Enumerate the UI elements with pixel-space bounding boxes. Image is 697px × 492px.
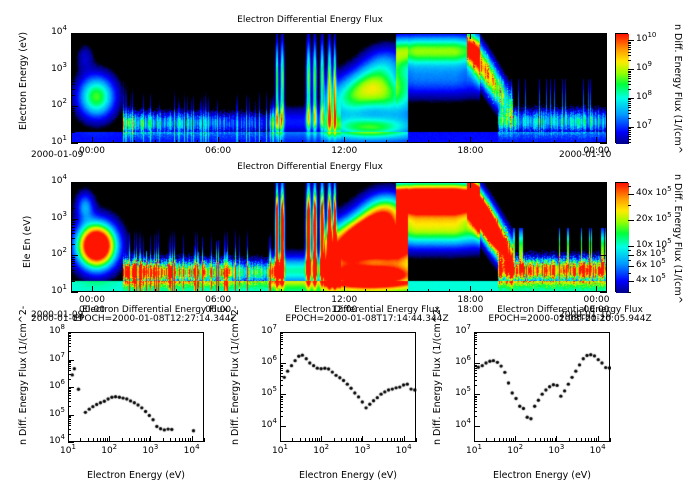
sp-y-minor-tick xyxy=(280,354,283,355)
y-minor-tick xyxy=(71,59,75,60)
cb-minor-tick xyxy=(628,260,631,261)
sp-x-minor-tick xyxy=(309,438,310,442)
cb-minor-tick xyxy=(628,273,631,274)
y-tick-label-1e2: 102 xyxy=(36,249,67,259)
top-colorbar-label: n Diff. Energy Flux (1/(cm^ xyxy=(672,24,683,154)
sp-x-minor-tick xyxy=(334,438,335,442)
sp-y-minor-tick xyxy=(68,364,71,365)
sp-y-tick-label-1e6: 106 xyxy=(440,357,471,367)
sp-x-minor-tick xyxy=(394,438,395,442)
y-minor-tick xyxy=(71,112,75,113)
x-minor-tick xyxy=(113,289,114,292)
y-minor-tick xyxy=(71,190,75,191)
x-minor-tick xyxy=(470,140,471,143)
cb-minor-tick xyxy=(628,42,631,43)
sp-x-minor-tick xyxy=(494,438,495,442)
sp-x-minor-tick xyxy=(305,438,306,442)
y-minor-tick xyxy=(71,270,75,271)
cb-minor-tick xyxy=(628,76,631,77)
sp-x-major-tick xyxy=(515,436,516,442)
cb-minor-tick xyxy=(628,134,631,135)
y-minor-tick xyxy=(71,73,75,74)
y-minor-tick xyxy=(71,35,75,36)
y-tick-label-1e1: 101 xyxy=(36,137,67,147)
sp-x-minor-tick xyxy=(576,438,577,442)
cb-minor-tick xyxy=(628,47,631,48)
x-minor-tick xyxy=(491,140,492,143)
sp-y-major-tick xyxy=(280,394,286,395)
sp-y-minor-tick xyxy=(68,391,71,392)
cb-tick-label-1: 20x 105 xyxy=(636,214,672,224)
sp-y-minor-tick xyxy=(280,348,283,349)
x-minor-tick xyxy=(281,289,282,292)
top-xaxis-date-right: 2000-01-10 xyxy=(559,150,611,160)
sp-y-minor-tick xyxy=(68,340,71,341)
x-minor-tick xyxy=(260,289,261,292)
cb-minor-tick xyxy=(628,220,631,221)
bottom-panel-1-ylabel: n Diff. Energy Flux (1/(cm^2- xyxy=(18,306,29,445)
sp-x-minor-tick xyxy=(391,438,392,442)
sp-x-minor-tick xyxy=(506,438,507,442)
sp-y-minor-tick xyxy=(474,373,477,374)
cb-minor-tick xyxy=(628,130,631,131)
sp-x-minor-tick xyxy=(346,438,347,442)
x-minor-tick xyxy=(365,289,366,292)
cb-minor-tick xyxy=(628,81,631,82)
sp-y-major-tick xyxy=(280,332,286,333)
sp-y-minor-tick xyxy=(68,368,71,369)
sp-x-minor-tick xyxy=(185,438,186,442)
sp-x-minor-tick xyxy=(540,438,541,442)
sp-y-minor-tick xyxy=(68,406,71,407)
x-major-tick xyxy=(218,182,219,188)
sp-y-minor-tick xyxy=(68,343,71,344)
sp-y-minor-tick xyxy=(474,385,477,386)
sp-y-minor-tick xyxy=(68,362,71,363)
y-minor-tick xyxy=(71,108,75,109)
sp-y-major-tick xyxy=(68,360,74,361)
cb-minor-tick xyxy=(628,281,631,282)
sp-x-tick-label-1e4: 104 xyxy=(580,446,616,456)
top-panel-title: Electron Differential Energy Flux xyxy=(0,15,620,25)
cb-tick-label-1e7: 107 xyxy=(636,121,652,131)
x-major-tick xyxy=(596,33,597,39)
y-tick-label-1e4: 104 xyxy=(36,27,67,37)
x-minor-tick xyxy=(407,289,408,292)
x-minor-tick xyxy=(512,140,513,143)
sp-y-tick-label-1e4: 104 xyxy=(440,420,471,430)
middle-colorbar-label: n Diff. Energy Flux (1/(cm^ xyxy=(672,174,683,304)
bottom-panel-1-xlabel: Electron Energy (eV) xyxy=(68,470,204,481)
sp-x-minor-tick xyxy=(179,438,180,442)
sp-y-minor-tick xyxy=(280,337,283,338)
sp-x-minor-tick xyxy=(350,438,351,442)
x-minor-tick xyxy=(575,140,576,143)
cb-minor-tick xyxy=(628,113,631,114)
sp-y-minor-tick xyxy=(474,368,477,369)
sp-y-tick-label-1e6: 106 xyxy=(34,381,65,391)
sp-x-minor-tick xyxy=(555,438,556,442)
x-minor-tick xyxy=(197,140,198,143)
middle-panel-ylabel: Ele En (eV) xyxy=(22,216,33,268)
sp-x-minor-tick xyxy=(170,438,171,442)
sp-y-minor-tick xyxy=(474,399,477,400)
y-minor-tick xyxy=(71,95,75,96)
cb-minor-tick xyxy=(628,250,631,251)
sp-y-minor-tick xyxy=(474,333,477,334)
y-major-tick xyxy=(71,292,78,293)
x-minor-tick xyxy=(449,140,450,143)
x-minor-tick xyxy=(596,140,597,143)
x-minor-tick xyxy=(596,289,597,292)
cb-minor-tick xyxy=(628,105,631,106)
sp-x-minor-tick xyxy=(535,438,536,442)
x-minor-tick xyxy=(470,289,471,292)
sp-x-minor-tick xyxy=(610,438,611,442)
sp-y-major-tick xyxy=(68,332,74,333)
sp-y-minor-tick xyxy=(474,401,477,402)
y-major-tick xyxy=(600,70,607,71)
bottom-panel-3-xlabel: Electron Energy (eV) xyxy=(474,470,610,481)
sp-y-minor-tick xyxy=(280,399,283,400)
bottom-panel-2-subtitle: EPOCH=2000-01-08T17:14:44.344Z xyxy=(252,314,482,324)
sp-y-minor-tick xyxy=(280,335,283,336)
sp-y-minor-tick xyxy=(68,417,71,418)
x-minor-tick xyxy=(449,289,450,292)
sp-y-major-tick xyxy=(474,332,480,333)
sp-y-minor-tick xyxy=(280,411,283,412)
sp-y-minor-tick xyxy=(280,365,283,366)
y-tick-label-1e4: 104 xyxy=(36,176,67,186)
sp-x-minor-tick xyxy=(550,438,551,442)
y-minor-tick xyxy=(71,84,75,85)
sp-y-tick-label-1e5: 105 xyxy=(34,409,65,419)
x-minor-tick xyxy=(344,140,345,143)
spectrum-plot-1[interactable] xyxy=(68,332,204,442)
cb-minor-tick xyxy=(628,142,631,143)
sp-x-tick-label-1e3: 103 xyxy=(344,446,380,456)
cb-tick-label-1e9: 109 xyxy=(636,63,652,73)
x-minor-tick xyxy=(92,140,93,143)
cb-tick-label-5: 4x 105 xyxy=(636,275,666,285)
x-minor-tick xyxy=(239,289,240,292)
sp-x-minor-tick xyxy=(358,438,359,442)
sp-y-minor-tick xyxy=(474,396,477,397)
y-minor-tick xyxy=(71,224,75,225)
sp-y-tick-label-1e4: 104 xyxy=(246,420,277,430)
y-major-tick xyxy=(600,292,607,293)
sp-x-minor-tick xyxy=(513,438,514,442)
sp-y-minor-tick xyxy=(280,333,283,334)
x-major-tick xyxy=(596,182,597,188)
x-minor-tick xyxy=(386,140,387,143)
overprint-time-label-3: 18:00 xyxy=(448,305,492,315)
sp-x-minor-tick xyxy=(105,438,106,442)
sp-y-tick-label-1e7: 107 xyxy=(246,326,277,336)
sp-y-minor-tick xyxy=(280,407,283,408)
x-minor-tick xyxy=(428,140,429,143)
sp-x-minor-tick xyxy=(93,438,94,442)
sp-y-minor-tick xyxy=(474,370,477,371)
sp-x-minor-tick xyxy=(356,438,357,442)
sp-x-minor-tick xyxy=(182,438,183,442)
cb-minor-tick xyxy=(628,132,631,133)
cb-minor-tick xyxy=(628,101,631,102)
x-minor-tick xyxy=(302,140,303,143)
cb-minor-tick xyxy=(628,49,631,50)
sp-y-minor-tick xyxy=(68,370,71,371)
sp-x-major-tick xyxy=(150,436,151,442)
x-major-tick xyxy=(218,33,219,39)
cb-minor-tick xyxy=(628,89,631,90)
x-tick-label-0: 00:00 xyxy=(70,295,114,305)
y-major-tick xyxy=(600,33,607,34)
y-minor-tick xyxy=(71,71,75,72)
x-minor-tick xyxy=(386,289,387,292)
cb-minor-tick xyxy=(628,60,631,61)
sp-x-minor-tick xyxy=(416,438,417,442)
x-tick-label-2: 12:00 xyxy=(322,146,366,156)
sp-x-minor-tick xyxy=(141,438,142,442)
sp-x-tick-label-1e2: 102 xyxy=(303,446,339,456)
x-minor-tick xyxy=(491,289,492,292)
y-minor-tick xyxy=(71,227,75,228)
sp-y-minor-tick xyxy=(68,401,71,402)
sp-x-minor-tick xyxy=(402,438,403,442)
sp-y-minor-tick xyxy=(280,416,283,417)
sp-y-tick-label-1e5: 105 xyxy=(246,388,277,398)
sp-x-minor-tick xyxy=(312,438,313,442)
sp-y-major-tick xyxy=(474,394,480,395)
y-minor-tick xyxy=(71,230,75,231)
x-minor-tick xyxy=(323,289,324,292)
sp-x-minor-tick xyxy=(315,438,316,442)
spectrum-plot-3[interactable] xyxy=(474,332,610,442)
y-minor-tick xyxy=(71,208,75,209)
sp-y-minor-tick xyxy=(474,376,477,377)
sp-x-minor-tick xyxy=(596,438,597,442)
sp-x-minor-tick xyxy=(486,438,487,442)
cb-minor-tick xyxy=(628,74,631,75)
x-minor-tick xyxy=(512,289,513,292)
x-minor-tick xyxy=(533,289,534,292)
x-tick-label-1: 06:00 xyxy=(196,295,240,305)
top-xaxis-date-left: 2000-01-09 xyxy=(31,150,83,160)
cb-tick-label-4: 6x 105 xyxy=(636,260,666,270)
y-minor-tick xyxy=(71,39,75,40)
x-major-tick xyxy=(92,33,93,39)
x-minor-tick xyxy=(428,289,429,292)
sp-y-minor-tick xyxy=(68,421,71,422)
x-minor-tick xyxy=(113,140,114,143)
sp-x-minor-tick xyxy=(547,438,548,442)
x-minor-tick xyxy=(155,140,156,143)
sp-x-minor-tick xyxy=(594,438,595,442)
y-minor-tick xyxy=(71,44,75,45)
cb-minor-tick xyxy=(628,110,631,111)
sp-y-minor-tick xyxy=(68,366,71,367)
sp-x-major-tick xyxy=(280,436,281,442)
sp-y-minor-tick xyxy=(68,374,71,375)
sp-x-major-tick xyxy=(474,436,475,442)
sp-y-minor-tick xyxy=(474,354,477,355)
sp-y-minor-tick xyxy=(68,390,71,391)
sp-x-major-tick xyxy=(68,436,69,442)
sp-x-minor-tick xyxy=(122,438,123,442)
x-minor-tick xyxy=(134,140,135,143)
sp-x-major-tick xyxy=(192,436,193,442)
sp-x-minor-tick xyxy=(585,438,586,442)
y-minor-tick xyxy=(71,52,75,53)
sp-x-major-tick xyxy=(109,436,110,442)
sp-x-minor-tick xyxy=(204,438,205,442)
cb-minor-tick xyxy=(628,186,631,187)
cb-tick-label-0: 40x 105 xyxy=(636,188,672,198)
sp-y-minor-tick xyxy=(68,398,71,399)
sp-y-major-tick xyxy=(68,387,74,388)
y-minor-tick xyxy=(71,275,75,276)
sp-y-tick-label-1e8: 108 xyxy=(34,326,65,336)
sp-y-minor-tick xyxy=(280,380,283,381)
sp-x-minor-tick xyxy=(317,438,318,442)
x-tick-label-3: 18:00 xyxy=(448,146,492,156)
y-minor-tick xyxy=(71,48,75,49)
sp-x-minor-tick xyxy=(188,438,189,442)
x-minor-tick xyxy=(155,289,156,292)
y-minor-tick xyxy=(71,257,75,258)
y-minor-tick xyxy=(71,186,75,187)
sp-y-minor-tick xyxy=(68,395,71,396)
y-major-tick xyxy=(600,182,607,183)
sp-y-minor-tick xyxy=(280,339,283,340)
sp-y-minor-tick xyxy=(474,348,477,349)
sp-y-minor-tick xyxy=(68,379,71,380)
y-minor-tick xyxy=(71,259,75,260)
sp-y-minor-tick xyxy=(474,366,477,367)
sp-x-minor-tick xyxy=(103,438,104,442)
sp-y-tick-label-1e7: 107 xyxy=(34,354,65,364)
sp-x-tick-label-1e4: 104 xyxy=(386,446,422,456)
middle-panel-title: Electron Differential Energy Flux xyxy=(0,162,620,172)
sp-y-minor-tick xyxy=(68,388,71,389)
y-minor-tick xyxy=(71,78,75,79)
cb-minor-tick xyxy=(628,52,631,53)
sp-y-minor-tick xyxy=(280,401,283,402)
sp-x-minor-tick xyxy=(552,438,553,442)
x-minor-tick xyxy=(407,140,408,143)
sp-y-minor-tick xyxy=(68,351,71,352)
x-minor-tick xyxy=(365,140,366,143)
cb-minor-tick xyxy=(628,266,631,267)
x-tick-label-4: 00:00 xyxy=(574,295,618,305)
sp-y-minor-tick xyxy=(474,416,477,417)
cb-minor-tick xyxy=(628,72,631,73)
sp-x-minor-tick xyxy=(292,438,293,442)
y-minor-tick xyxy=(71,184,75,185)
sp-y-minor-tick xyxy=(280,373,283,374)
x-minor-tick xyxy=(323,140,324,143)
sp-x-minor-tick xyxy=(97,438,98,442)
middle-spectrogram[interactable] xyxy=(71,182,607,292)
x-minor-tick xyxy=(281,140,282,143)
sp-y-minor-tick xyxy=(280,376,283,377)
y-minor-tick xyxy=(71,114,75,115)
sp-x-minor-tick xyxy=(581,438,582,442)
top-spectrogram[interactable] xyxy=(71,33,607,143)
sp-x-tick-label-1e1: 101 xyxy=(50,446,86,456)
sp-y-tick-label-1e7: 107 xyxy=(440,326,471,336)
sp-y-minor-tick xyxy=(280,396,283,397)
sp-x-minor-tick xyxy=(400,438,401,442)
sp-y-minor-tick xyxy=(474,380,477,381)
sp-x-minor-tick xyxy=(138,438,139,442)
sp-y-minor-tick xyxy=(280,397,283,398)
x-tick-label-1: 06:00 xyxy=(196,146,240,156)
sp-y-minor-tick xyxy=(474,337,477,338)
x-minor-tick xyxy=(71,140,72,143)
sp-y-minor-tick xyxy=(68,361,71,362)
spectrum-plot-2[interactable] xyxy=(280,332,416,442)
y-minor-tick xyxy=(71,201,75,202)
sp-x-minor-tick xyxy=(511,438,512,442)
sp-y-minor-tick xyxy=(280,344,283,345)
x-minor-tick xyxy=(260,140,261,143)
sp-y-minor-tick xyxy=(68,333,71,334)
sp-x-major-tick xyxy=(598,436,599,442)
cb-minor-tick xyxy=(628,128,631,129)
y-minor-tick xyxy=(71,110,75,111)
sp-x-minor-tick xyxy=(129,438,130,442)
y-minor-tick xyxy=(71,193,75,194)
sp-y-minor-tick xyxy=(68,346,71,347)
sp-x-minor-tick xyxy=(503,438,504,442)
sp-x-major-tick xyxy=(404,436,405,442)
sp-x-minor-tick xyxy=(528,438,529,442)
sp-x-minor-tick xyxy=(397,438,398,442)
cb-minor-tick xyxy=(628,84,631,85)
sp-x-tick-label-1e2: 102 xyxy=(497,446,533,456)
cb-minor-tick xyxy=(628,246,631,247)
sp-y-major-tick xyxy=(280,426,286,427)
sp-y-minor-tick xyxy=(280,370,283,371)
x-minor-tick xyxy=(344,289,345,292)
sp-x-minor-tick xyxy=(100,438,101,442)
sp-x-minor-tick xyxy=(361,438,362,442)
cb-minor-tick xyxy=(628,103,631,104)
sp-x-major-tick xyxy=(321,436,322,442)
bottom-panel-2-xlabel: Electron Energy (eV) xyxy=(280,470,416,481)
sp-x-minor-tick xyxy=(544,438,545,442)
overprint-date-left: 2000-01-09 xyxy=(31,314,83,324)
sp-x-minor-tick xyxy=(341,438,342,442)
y-minor-tick xyxy=(71,41,75,42)
sp-x-minor-tick xyxy=(144,438,145,442)
y-minor-tick xyxy=(71,261,75,262)
sp-x-tick-label-1e1: 101 xyxy=(262,446,298,456)
bottom-panel-2-ylabel: n Diff. Energy Flux (1/(cm^2- xyxy=(230,306,241,445)
middle-colorbar[interactable] xyxy=(615,182,628,292)
sp-y-minor-tick xyxy=(474,411,477,412)
sp-x-major-tick xyxy=(556,436,557,442)
cb-minor-tick xyxy=(628,118,631,119)
y-minor-tick xyxy=(71,126,75,127)
sp-y-minor-tick xyxy=(68,338,71,339)
overprint-time-label-2: 12:00 xyxy=(322,305,366,315)
y-minor-tick xyxy=(71,233,75,234)
top-colorbar[interactable] xyxy=(615,33,628,143)
middle-panel-ylabel-wrap: Ele En (eV) xyxy=(22,268,74,279)
y-minor-tick xyxy=(71,220,75,221)
